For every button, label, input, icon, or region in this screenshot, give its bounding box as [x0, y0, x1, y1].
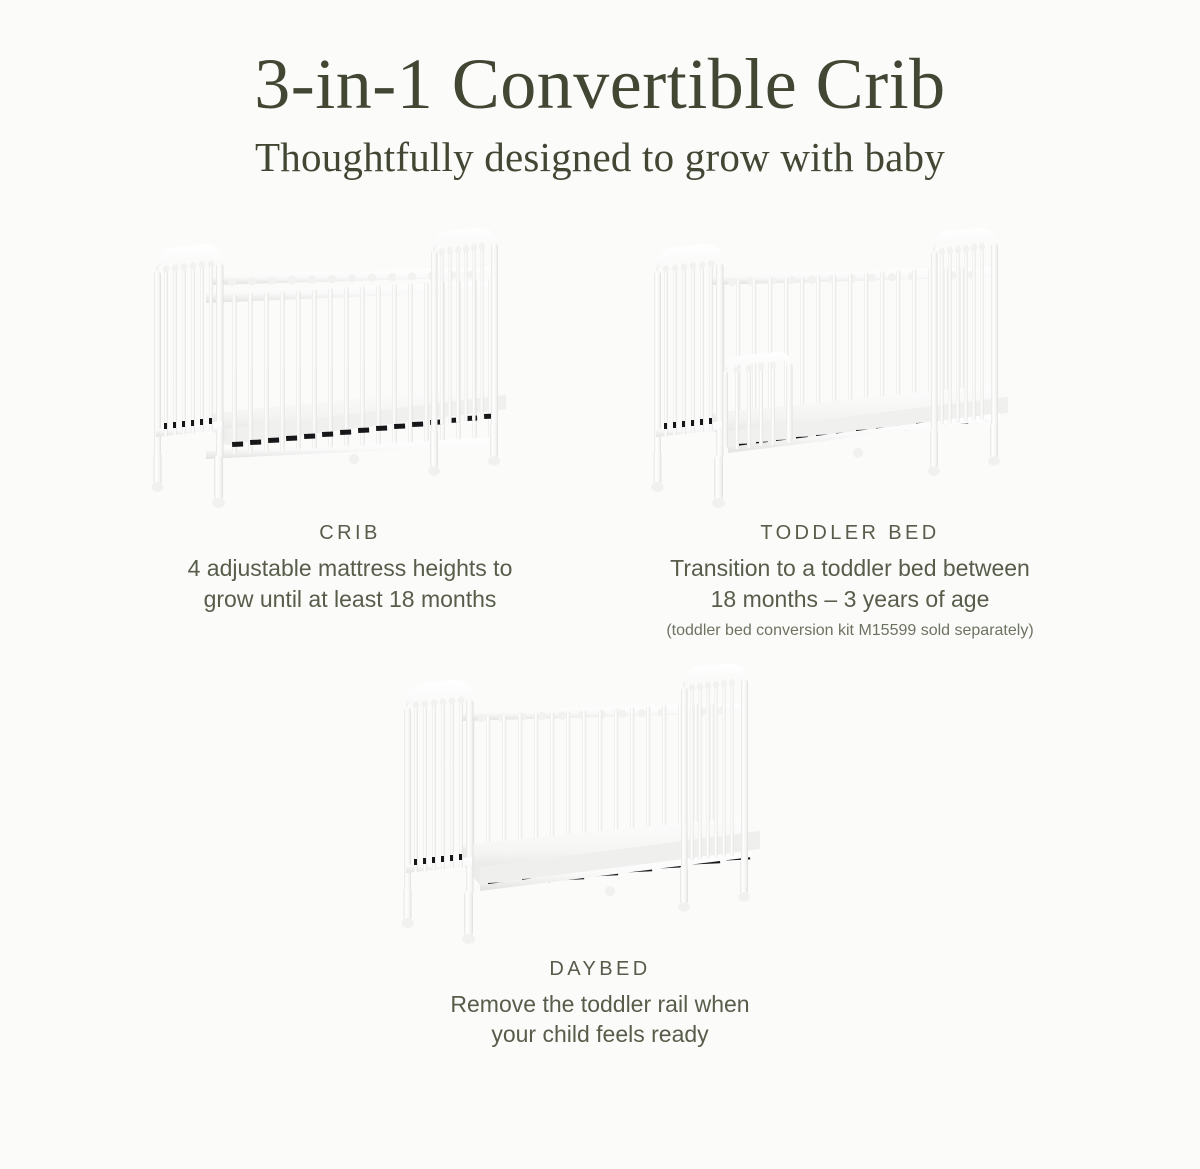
mode-card-daybed[interactable]: DAYBED Remove the toddler rail when your…: [350, 659, 850, 1050]
toddler-bed-conversion-kit-note: (toddler bed conversion kit M15599 sold …: [600, 620, 1100, 642]
mode-card-crib[interactable]: CRIB 4 adjustable mattress heights to gr…: [100, 223, 600, 614]
crib-caption: CRIB 4 adjustable mattress heights to gr…: [100, 522, 600, 614]
mode-label-toddler-bed: TODDLER BED: [600, 522, 1100, 545]
page-header: 3-in-1 Convertible Crib Thoughtfully des…: [0, 0, 1200, 181]
mode-description-daybed: Remove the toddler rail when your child …: [350, 989, 850, 1050]
mode-description-crib: 4 adjustable mattress heights to grow un…: [100, 553, 600, 614]
modes-row-top: CRIB 4 adjustable mattress heights to gr…: [0, 223, 1200, 643]
mode-label-daybed: DAYBED: [350, 958, 850, 981]
mode-description-line-1: 4 adjustable mattress heights to: [188, 555, 513, 581]
mode-description-line-1: Remove the toddler rail when: [450, 991, 749, 1017]
page-subtitle: Thoughtfully designed to grow with baby: [0, 134, 1200, 181]
toddler-bed-caption: TODDLER BED Transition to a toddler bed …: [600, 522, 1100, 643]
crib-illustration: [140, 223, 560, 508]
mode-description-line-1: Transition to a toddler bed between: [670, 555, 1030, 581]
conversion-modes-grid: CRIB 4 adjustable mattress heights to gr…: [0, 223, 1200, 1050]
daybed-caption: DAYBED Remove the toddler rail when your…: [350, 958, 850, 1050]
mode-card-toddler-bed[interactable]: TODDLER BED Transition to a toddler bed …: [600, 223, 1100, 643]
mode-description-line-2: 18 months – 3 years of age: [711, 586, 990, 612]
daybed-illustration: [390, 659, 810, 944]
mode-description-toddler-bed: Transition to a toddler bed between 18 m…: [600, 553, 1100, 614]
mode-label-crib: CRIB: [100, 522, 600, 545]
page-title: 3-in-1 Convertible Crib: [0, 48, 1200, 120]
mode-description-line-2: your child feels ready: [491, 1021, 708, 1047]
modes-row-bottom: DAYBED Remove the toddler rail when your…: [0, 659, 1200, 1050]
toddler-bed-illustration: [640, 223, 1060, 508]
mode-description-line-2: grow until at least 18 months: [204, 586, 497, 612]
